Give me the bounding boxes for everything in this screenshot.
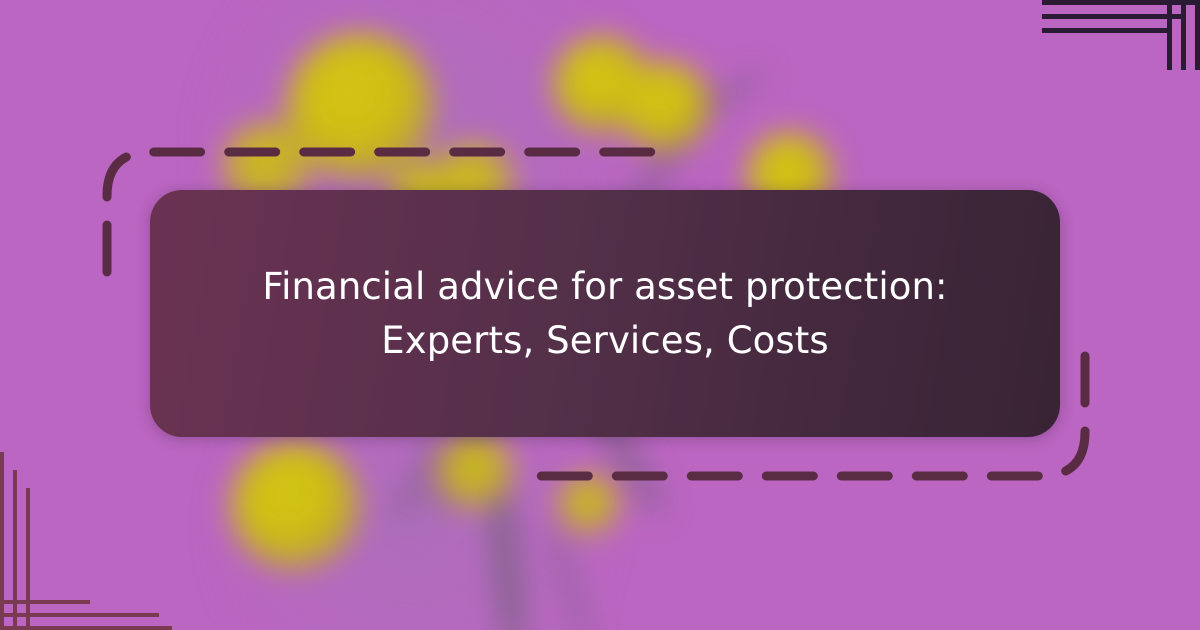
top-right-bracket: [1035, 0, 1200, 120]
bracket-line-h2: [0, 613, 159, 617]
bracket-line-v3: [1167, 0, 1172, 70]
bottom-left-bracket: [0, 445, 175, 630]
bloom-bottom-left: [232, 443, 359, 570]
bracket-line-v2: [1181, 0, 1186, 70]
bracket-line-h3: [1042, 28, 1172, 33]
page-title: Financial advice for asset protection: E…: [210, 260, 1000, 367]
bracket-line-h3: [0, 600, 90, 604]
bracket-line-v3: [26, 488, 30, 630]
bracket-line-v2: [13, 470, 17, 630]
social-card-canvas: Financial advice for asset protection: E…: [0, 0, 1200, 630]
bracket-line-h2: [1042, 14, 1186, 19]
bloom-bottom-right: [558, 474, 620, 536]
bloom-bottom-mid: [438, 435, 515, 512]
bloom-top-center-2: [621, 62, 710, 151]
bracket-line-v1: [1195, 0, 1200, 70]
title-card: Financial advice for asset protection: E…: [150, 190, 1060, 437]
bracket-line-h1: [1042, 0, 1200, 5]
